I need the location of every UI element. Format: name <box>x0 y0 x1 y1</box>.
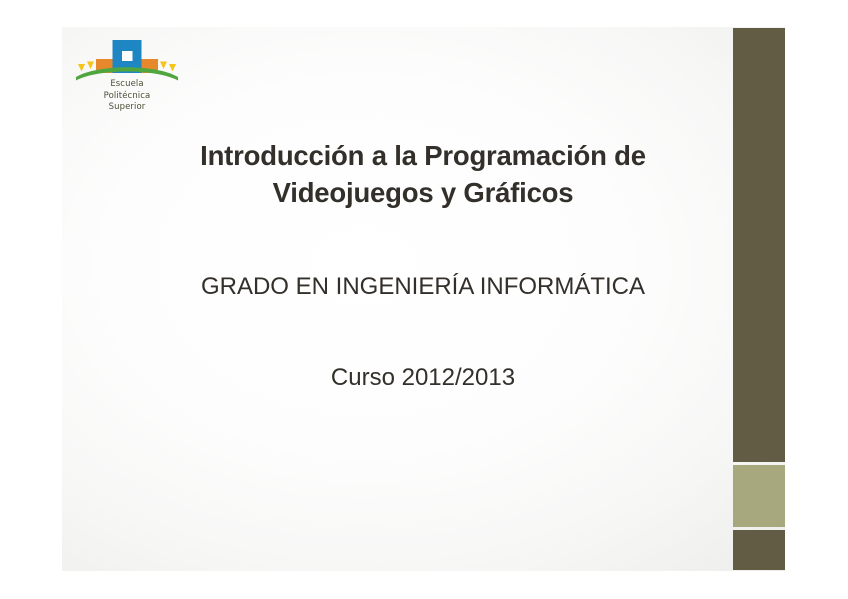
decorative-side-bar <box>733 28 785 570</box>
bar-segment-top <box>733 28 785 462</box>
slide-degree-subtitle: GRADO EN INGENIERÍA INFORMÁTICA <box>118 270 728 303</box>
slide-course-year: Curso 2012/2013 <box>118 361 728 394</box>
presentation-slide: Escuela Politécnica Superior Introducció… <box>62 27 785 571</box>
slide-canvas: Escuela Politécnica Superior Introducció… <box>0 0 848 599</box>
escuela-politecnica-superior-logo: Escuela Politécnica Superior <box>68 33 186 127</box>
logo-line-2: Politécnica <box>68 91 186 103</box>
logo-line-3: Superior <box>68 102 186 114</box>
logo-emblem-icon <box>68 33 186 81</box>
bar-segment-bottom <box>733 530 785 570</box>
bar-segment-middle <box>733 465 785 527</box>
logo-wordmark: Escuela Politécnica Superior <box>68 79 186 114</box>
logo-line-1: Escuela <box>68 79 186 91</box>
slide-text-body: Introducción a la Programación de Videoj… <box>118 137 728 394</box>
slide-title: Introducción a la Programación de Videoj… <box>118 137 728 211</box>
